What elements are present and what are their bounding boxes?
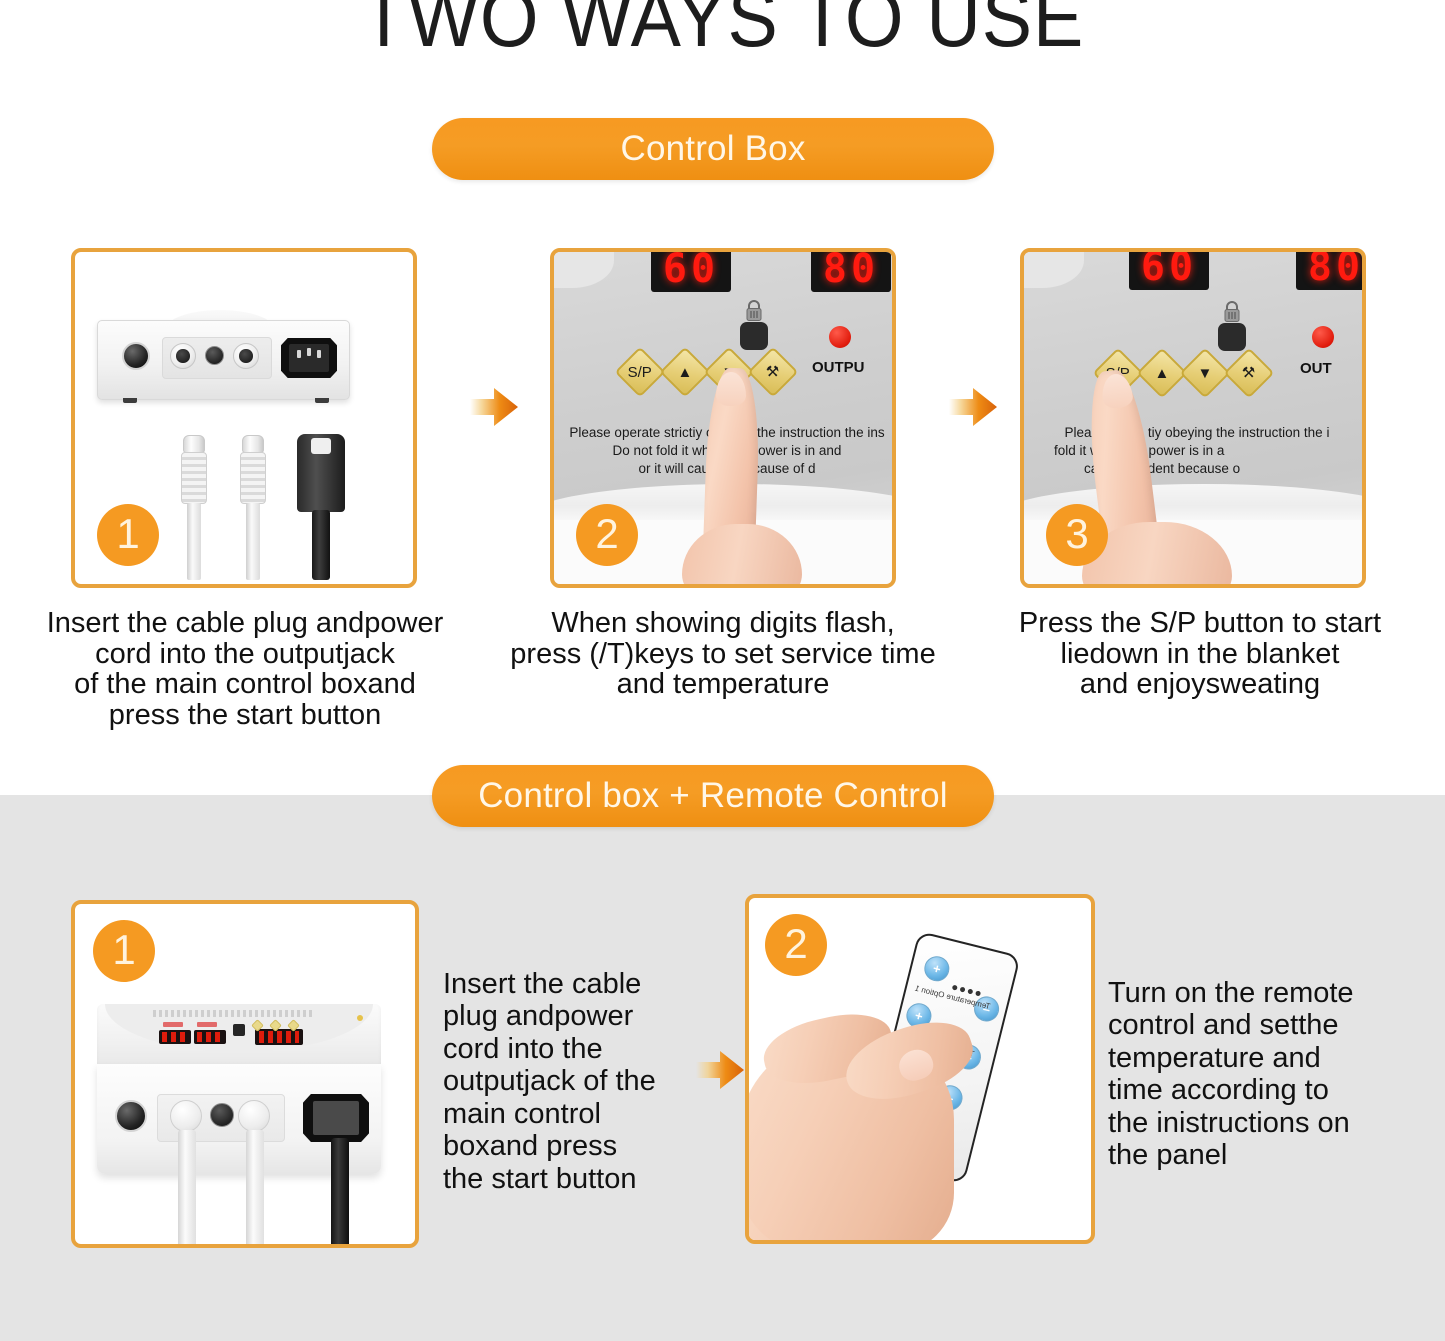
- caption-step-3-line-3: and enjoysweating: [975, 669, 1425, 700]
- din-connector-right[interactable]: [238, 1100, 270, 1132]
- din-jack-right[interactable]: [233, 343, 259, 369]
- lock-button-3[interactable]: [1218, 323, 1246, 351]
- center-black-jack-2[interactable]: [210, 1103, 234, 1127]
- iec-pin-3: [317, 350, 321, 358]
- mini-led-display-2: [194, 1030, 226, 1044]
- power-cord-notch: [311, 438, 331, 454]
- caption-step-4: Insert the cable plug andpower cord into…: [443, 968, 693, 1195]
- output-indicator-2: [829, 326, 851, 348]
- mini-tag-2: [197, 1022, 217, 1027]
- caption-step-2-line-2: press (/T)keys to set service time: [483, 639, 963, 670]
- time-display-3: 60: [1129, 252, 1209, 290]
- step-panel-1: 1: [71, 248, 417, 588]
- caption-step-4-line-4: outputjack of the: [443, 1065, 693, 1097]
- up-key-label-3: ▲: [1155, 365, 1170, 380]
- power-switch[interactable]: [122, 342, 150, 370]
- panel-4-image: 1: [75, 904, 415, 1244]
- flow-arrow-3: [694, 1048, 746, 1092]
- mini-power-led: [357, 1015, 363, 1021]
- iec-pin-2: [307, 348, 311, 356]
- caption-step-3: Press the S/P button to start liedown in…: [975, 608, 1425, 700]
- banner-control-box-remote: Control box + Remote Control: [432, 765, 994, 827]
- page-root: TWO WAYS TO USE Control Box: [0, 0, 1445, 1341]
- down-key-label-3: ▼: [1198, 365, 1213, 380]
- din-jack-left[interactable]: [170, 343, 196, 369]
- temp2-plus-glyph: +: [914, 1009, 925, 1023]
- lock-icon-3: [1222, 300, 1242, 324]
- iec-inner-cavity-2: [313, 1101, 359, 1135]
- cable-plug-2-grip: [240, 452, 266, 504]
- white-cable-left: [178, 1130, 196, 1244]
- step-badge-4: 1: [93, 920, 155, 982]
- temp1-plus-button[interactable]: +: [922, 954, 952, 984]
- panel-1-image: 1: [75, 252, 413, 584]
- flow-arrow-2: [947, 385, 999, 429]
- output-label-2: OUTPU: [812, 359, 865, 376]
- cable-plug-1-wire: [187, 503, 201, 580]
- caption-step-5-line-1: Turn on the remote: [1108, 977, 1378, 1009]
- step-badge-2: 2: [576, 504, 638, 566]
- mini-lock-button[interactable]: [233, 1024, 245, 1036]
- iec-pin-1: [297, 350, 301, 358]
- flow-arrow-1: [468, 385, 520, 429]
- caption-step-1: Insert the cable plug andpower cord into…: [20, 608, 470, 731]
- control-box-foot-right: [315, 398, 329, 403]
- caption-step-3-line-1: Press the S/P button to start: [975, 608, 1425, 639]
- step-panel-2: 60 80 OUTPU S/P ▲: [550, 248, 896, 588]
- time-display-2: 60: [651, 252, 731, 292]
- lock-icon-2: [744, 299, 764, 323]
- caption-step-2: When showing digits flash, press (/T)key…: [483, 608, 963, 700]
- caption-step-2-line-1: When showing digits flash,: [483, 608, 963, 639]
- black-power-cable: [331, 1138, 349, 1244]
- control-box-foot-left: [123, 398, 137, 403]
- caption-step-5-line-3: temperature and: [1108, 1042, 1378, 1074]
- control-box-2-print-row: [153, 1010, 313, 1017]
- power-cord-plug: [297, 434, 345, 580]
- step-panel-4: 1: [71, 900, 419, 1248]
- caption-step-5-line-6: the panel: [1108, 1139, 1378, 1171]
- temp-display-3: 80: [1296, 252, 1362, 290]
- power-cord-wire: [312, 510, 330, 580]
- cable-plug-1-head: [183, 435, 205, 453]
- caption-step-4-line-1: Insert the cable: [443, 968, 693, 1000]
- caption-step-3-line-2: liedown in the blanket: [975, 639, 1425, 670]
- caption-step-5-line-2: control and setthe: [1108, 1009, 1378, 1041]
- caption-step-5-line-5: the inistructions on: [1108, 1107, 1378, 1139]
- white-cable-right: [246, 1130, 264, 1244]
- mini-led-display-1: [159, 1030, 191, 1044]
- caption-step-4-line-3: cord into the: [443, 1033, 693, 1065]
- wrench-key-label-3: ⚒: [1242, 365, 1255, 380]
- panel-3-image: 60 80 OUT S/P ▲ ▼: [1024, 252, 1362, 584]
- sp-key-label-2: S/P: [628, 365, 652, 380]
- output-indicator-3: [1312, 326, 1334, 348]
- caption-step-1-line-4: press the start button: [20, 700, 470, 731]
- caption-step-5-line-4: time according to: [1108, 1074, 1378, 1106]
- step-panel-5: 2 + – Temperature Option 1 + –: [745, 894, 1095, 1244]
- caption-step-2-line-3: and temperature: [483, 669, 963, 700]
- caption-step-1-line-2: cord into the outputjack: [20, 639, 470, 670]
- cable-plug-2-wire: [246, 503, 260, 580]
- step-badge-1: 1: [97, 504, 159, 566]
- center-black-jack[interactable]: [205, 346, 224, 365]
- temp-display-2: 80: [811, 252, 891, 292]
- page-title: TWO WAYS TO USE: [58, 0, 1387, 60]
- panel-2-image: 60 80 OUTPU S/P ▲: [554, 252, 892, 584]
- din-connector-left[interactable]: [170, 1100, 202, 1132]
- mini-led-display-3: [255, 1029, 303, 1045]
- caption-step-4-line-6: boxand press: [443, 1130, 693, 1162]
- step-badge-3: 3: [1046, 504, 1108, 566]
- caption-step-4-line-7: the start button: [443, 1163, 693, 1195]
- lock-button-2[interactable]: [740, 322, 768, 350]
- warning-line-1-p3: Please opera tiy obeying the instruction…: [1024, 424, 1362, 441]
- cable-plug-1-grip: [181, 452, 207, 504]
- cable-plug-1: [179, 435, 209, 580]
- caption-step-4-line-5: main control: [443, 1098, 693, 1130]
- up-key-label-2: ▲: [678, 364, 693, 379]
- caption-step-5: Turn on the remote control and setthe te…: [1108, 977, 1378, 1172]
- mini-tag-1: [163, 1022, 183, 1027]
- iec-power-inlet-2[interactable]: [303, 1094, 369, 1142]
- caption-step-1-line-3: of the main control boxand: [20, 669, 470, 700]
- panel-5-image: 2 + – Temperature Option 1 + –: [749, 898, 1091, 1240]
- cable-plug-2: [238, 435, 268, 580]
- banner-control-box: Control Box: [432, 118, 994, 180]
- iec-power-inlet[interactable]: [281, 338, 337, 378]
- step-panel-3: 60 80 OUT S/P ▲ ▼: [1020, 248, 1366, 588]
- caption-step-1-line-1: Insert the cable plug andpower: [20, 608, 470, 639]
- caption-step-4-line-2: plug andpower: [443, 1000, 693, 1032]
- output-label-3: OUT: [1300, 360, 1332, 377]
- cable-plug-2-head: [242, 435, 264, 453]
- temp1-plus-glyph: +: [932, 962, 943, 976]
- step-badge-5: 2: [765, 914, 827, 976]
- wrench-key-label-2: ⚒: [766, 364, 779, 379]
- power-switch-2[interactable]: [115, 1100, 147, 1132]
